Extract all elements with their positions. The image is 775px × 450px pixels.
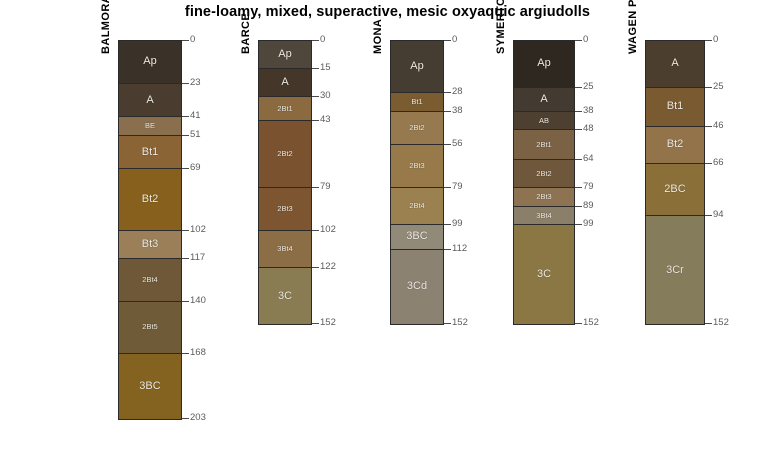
horizon-2bc: 2BC [646,164,704,216]
depth-tick [575,323,582,324]
depth-tick [182,230,189,231]
horizon-3bc: 3BC [119,354,181,419]
horizon-3bt4: 3Bt4 [259,231,311,268]
profile-label-mona: MONA [372,19,384,54]
depth-tick [705,215,712,216]
depth-tick-label: 79 [320,181,331,192]
horizon-label: Bt2 [667,139,684,150]
depth-tick [182,116,189,117]
depth-tick [312,187,319,188]
horizon-label: A [540,94,547,105]
depth-tick-label: 43 [320,114,331,125]
depth-tick-label: 0 [320,34,325,45]
horizon-bt3: Bt3 [119,231,181,259]
horizon-label: A [671,58,678,69]
depth-tick [575,129,582,130]
horizon-label: Ap [143,56,156,67]
horizon-a: A [119,84,181,118]
horizon-label: 3C [537,269,551,280]
depth-tick-label: 23 [190,77,201,88]
horizon-label: 2Bt3 [409,162,424,170]
profile-column: ApBt12Bt22Bt32Bt43BC3Cd [390,40,444,325]
horizon-ap: Ap [514,41,574,88]
depth-tick [182,40,189,41]
horizon-bt1: Bt1 [646,88,704,127]
horizon-3cr: 3Cr [646,216,704,324]
depth-tick [312,68,319,69]
depth-tick-label: 140 [190,295,206,306]
depth-tick [182,83,189,84]
profile-label-symerton: SYMERTON [495,0,507,54]
horizon-bt2: Bt2 [646,127,704,164]
depth-tick [182,135,189,136]
depth-tick-label: 203 [190,412,206,423]
depth-tick-label: 38 [452,105,463,116]
depth-tick-label: 30 [320,90,331,101]
profile-label-balmoral: BALMORAL [100,0,112,54]
horizon-3c: 3C [259,268,311,324]
horizon-3bt4: 3Bt4 [514,207,574,226]
horizon-2bt4: 2Bt4 [119,259,181,302]
depth-tick-label: 56 [452,138,463,149]
depth-tick-label: 15 [320,62,331,73]
horizon-ap: Ap [391,41,443,93]
depth-tick [444,92,451,93]
horizon-label: Bt1 [667,101,684,112]
depth-tick-label: 64 [583,153,594,164]
horizon-label: 3BC [139,381,160,392]
depth-tick-label: 46 [713,120,724,131]
profile-label-wagen-prairie: WAGEN PRAIRIE [627,0,639,54]
depth-tick-label: 79 [452,181,463,192]
depth-tick-label: 51 [190,129,201,140]
depth-tick-label: 152 [583,317,599,328]
depth-tick-label: 152 [452,317,468,328]
depth-tick-label: 79 [583,181,594,192]
horizon-2bt1: 2Bt1 [259,97,311,121]
horizon-label: Bt3 [142,239,159,250]
depth-tick-label: 38 [583,105,594,116]
horizon-3c: 3C [514,225,574,324]
horizon-label: 2Bt2 [536,170,551,178]
horizon-bt2: Bt2 [119,169,181,230]
depth-tick [705,126,712,127]
horizon-2bt2: 2Bt2 [259,121,311,188]
horizon-label: 3C [278,291,292,302]
depth-tick [182,301,189,302]
depth-tick-label: 0 [452,34,457,45]
horizon-bt1: Bt1 [119,136,181,170]
profile-column: ApA2Bt12Bt22Bt33Bt43C [258,40,312,325]
depth-tick-label: 94 [713,209,724,220]
horizon-2bt2: 2Bt2 [391,112,443,146]
depth-tick [312,230,319,231]
depth-tick-label: 168 [190,347,206,358]
depth-tick [444,249,451,250]
depth-tick [575,87,582,88]
horizon-bt1: Bt1 [391,93,443,112]
depth-tick [444,224,451,225]
depth-tick-label: 69 [190,162,201,173]
depth-tick [312,267,319,268]
depth-tick-label: 102 [320,224,336,235]
depth-tick-label: 122 [320,261,336,272]
horizon-label: BE [145,122,155,130]
horizon-label: 2Bt2 [277,150,292,158]
depth-tick [575,159,582,160]
depth-tick-label: 48 [583,123,594,134]
depth-tick [575,206,582,207]
profile-column: ABt1Bt22BC3Cr [645,40,705,325]
horizon-label: Bt1 [142,147,159,158]
depth-tick-label: 25 [583,81,594,92]
depth-tick [575,187,582,188]
depth-tick-label: 152 [713,317,729,328]
depth-tick-label: 0 [583,34,588,45]
horizon-label: Ap [278,49,291,60]
depth-tick [182,418,189,419]
depth-tick [312,40,319,41]
horizon-2bt3: 2Bt3 [391,145,443,188]
depth-tick [575,224,582,225]
depth-tick [705,163,712,164]
depth-tick [705,87,712,88]
depth-tick [705,40,712,41]
depth-tick-label: 41 [190,110,201,121]
depth-tick [444,40,451,41]
horizon-a: A [514,88,574,112]
horizon-label: 2Bt1 [536,141,551,149]
depth-tick-label: 152 [320,317,336,328]
horizon-a: A [259,69,311,97]
depth-tick-label: 112 [452,243,467,254]
depth-tick-label: 28 [452,86,463,97]
depth-tick [575,40,582,41]
horizon-label: 3Cr [666,265,684,276]
horizon-label: 2BC [664,184,685,195]
depth-tick-label: 25 [713,81,724,92]
horizon-ap: Ap [119,41,181,84]
horizon-label: 3BC [406,231,427,242]
horizon-label: Ap [537,58,550,69]
horizon-be: BE [119,117,181,136]
horizon-2bt4: 2Bt4 [391,188,443,225]
horizon-label: Ap [410,61,423,72]
horizon-ap: Ap [259,41,311,69]
horizon-2bt2: 2Bt2 [514,160,574,188]
depth-tick [182,168,189,169]
horizon-2bt5: 2Bt5 [119,302,181,354]
horizon-label: Bt2 [142,194,159,205]
horizon-label: A [281,77,288,88]
profile-label-barce: BARCE [240,13,252,54]
horizon-a: A [646,41,704,88]
depth-tick [312,120,319,121]
depth-tick-label: 0 [713,34,718,45]
depth-tick [182,353,189,354]
profile-column: ApAAB2Bt12Bt22Bt33Bt43C [513,40,575,325]
page-title: fine-loamy, mixed, superactive, mesic ox… [0,4,775,20]
depth-tick-label: 99 [452,218,463,229]
horizon-label: 2Bt3 [277,205,292,213]
depth-tick [312,323,319,324]
depth-tick [575,111,582,112]
depth-tick [705,323,712,324]
profile-column: ApABEBt1Bt2Bt32Bt42Bt53BC [118,40,182,420]
horizon-label: 2Bt2 [409,124,424,132]
horizon-label: 2Bt4 [142,276,157,284]
depth-tick-label: 66 [713,157,724,168]
depth-tick-label: 0 [190,34,195,45]
horizon-label: 2Bt4 [409,202,424,210]
horizon-label: 3Cd [407,281,427,292]
depth-tick-label: 99 [583,218,594,229]
depth-tick [444,187,451,188]
depth-tick-label: 102 [190,224,206,235]
soil-profile-chart: fine-loamy, mixed, superactive, mesic ox… [0,0,775,450]
horizon-label: 3Bt4 [277,245,292,253]
horizon-label: 2Bt1 [277,105,292,113]
depth-tick [444,111,451,112]
horizon-label: 2Bt3 [536,193,551,201]
horizon-2bt3: 2Bt3 [259,188,311,231]
horizon-2bt3: 2Bt3 [514,188,574,207]
depth-tick-label: 117 [190,252,205,263]
horizon-label: AB [539,117,549,125]
horizon-label: A [146,95,153,106]
horizon-label: Bt1 [411,98,422,106]
horizon-label: 2Bt5 [142,323,157,331]
depth-tick-label: 89 [583,200,594,211]
horizon-3bc: 3BC [391,225,443,249]
depth-tick [182,258,189,259]
horizon-label: 3Bt4 [536,212,551,220]
horizon-3cd: 3Cd [391,250,443,324]
horizon-ab: AB [514,112,574,131]
horizon-2bt1: 2Bt1 [514,130,574,160]
depth-tick [444,144,451,145]
depth-tick [312,96,319,97]
depth-tick [444,323,451,324]
